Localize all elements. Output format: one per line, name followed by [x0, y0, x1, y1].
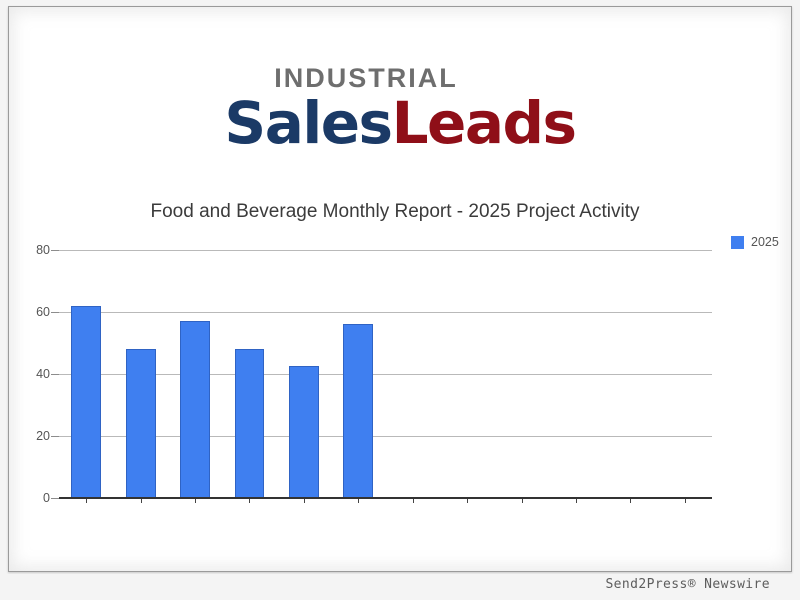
y-axis-tick-mark [51, 436, 59, 437]
slide-panel-inner: INDUSTRIAL SalesLeads Food and Beverage … [9, 7, 791, 571]
legend-swatch-2025 [731, 236, 744, 249]
bar-slot [549, 250, 603, 498]
logo-sales-text: Sales [224, 89, 391, 157]
y-axis-tick-mark [51, 312, 59, 313]
bar-march[interactable] [180, 321, 210, 498]
y-axis-tick-mark [51, 250, 59, 251]
bar-jan[interactable] [71, 306, 101, 498]
y-axis-tick-label: 0 [0, 491, 50, 505]
bars-group [59, 250, 712, 498]
bar-slot [222, 250, 276, 498]
logo-industrial-text: INDUSTRIAL [0, 65, 791, 92]
footer-attribution: Send2Press® Newswire [605, 577, 770, 592]
legend-label-2025: 2025 [751, 235, 779, 249]
bar-slot [277, 250, 331, 498]
bar-slot [113, 250, 167, 498]
chart-legend: 2025 [731, 235, 779, 249]
screenshot-frame: INDUSTRIAL SalesLeads Food and Beverage … [0, 0, 800, 600]
bar-slot [331, 250, 385, 498]
chart-title: Food and Beverage Monthly Report - 2025 … [9, 201, 793, 223]
bar-slot [168, 250, 222, 498]
bar-slot [658, 250, 712, 498]
bar-slot [603, 250, 657, 498]
y-axis-tick-label: 60 [0, 305, 50, 319]
bar-june[interactable] [343, 324, 373, 498]
bar-slot [440, 250, 494, 498]
logo-wordmark: SalesLeads [9, 94, 791, 152]
y-axis-tick-mark [51, 498, 59, 499]
bar-april[interactable] [235, 349, 265, 498]
x-axis-baseline [59, 497, 712, 499]
bar-slot [59, 250, 113, 498]
slide-panel: INDUSTRIAL SalesLeads Food and Beverage … [8, 6, 792, 572]
y-axis-tick-mark [51, 374, 59, 375]
y-axis-tick-label: 80 [0, 243, 50, 257]
bar-slot [494, 250, 548, 498]
brand-logo: INDUSTRIAL SalesLeads [9, 65, 791, 152]
bar-may[interactable] [289, 366, 319, 498]
bar-slot [386, 250, 440, 498]
footer-bar: Send2Press® Newswire [0, 574, 800, 600]
plot-area: 020406080 [59, 250, 712, 498]
y-axis-tick-label: 40 [0, 367, 50, 381]
logo-leads-text: Leads [392, 89, 576, 157]
y-axis-tick-label: 20 [0, 429, 50, 443]
bar-feb[interactable] [126, 349, 156, 498]
chart-container: Food and Beverage Monthly Report - 2025 … [9, 179, 793, 549]
